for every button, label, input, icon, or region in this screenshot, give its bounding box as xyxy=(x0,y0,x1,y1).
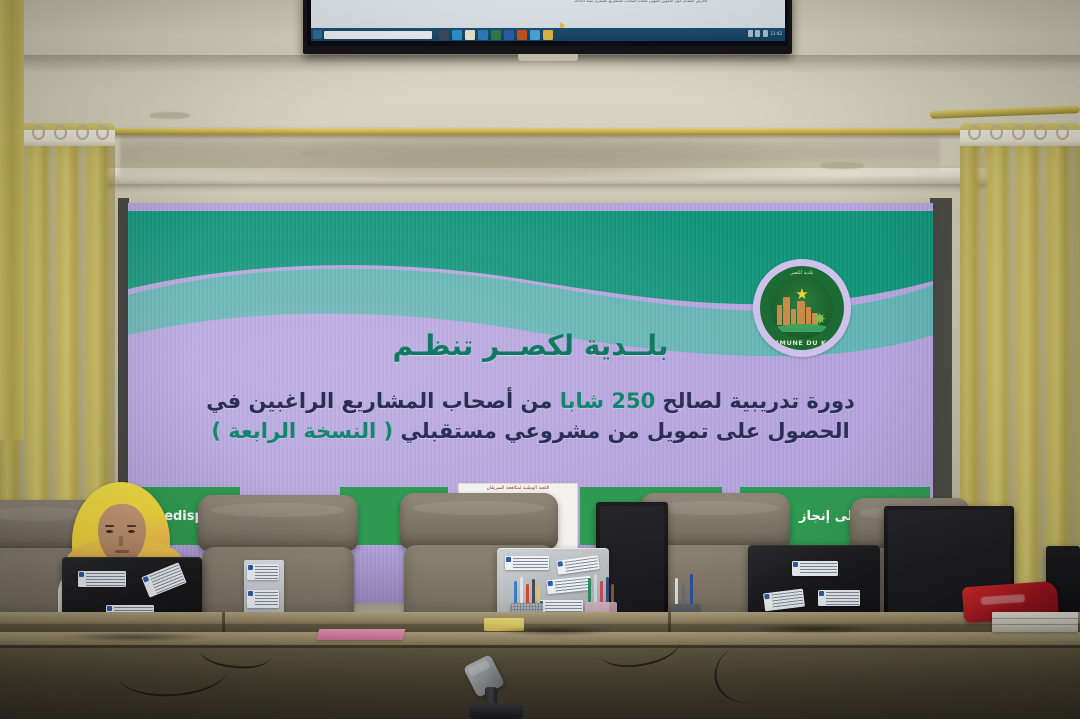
eyebrow-left xyxy=(105,525,114,527)
banner-line-2: الحصول على تمويل من مشروعي مستقبلي ( الن… xyxy=(128,416,933,446)
system-tray[interactable]: 11:42 xyxy=(748,30,782,37)
eyebrow-right xyxy=(127,525,136,527)
laptop-sticker xyxy=(792,561,838,576)
pink-paper-sheet[interactable] xyxy=(317,629,406,640)
nose xyxy=(119,536,123,546)
tv-document-text: العرض المقدم حول التكوين المهني لفائدة أ… xyxy=(517,0,707,4)
curtain-ring-icon xyxy=(968,125,981,140)
banner-line2-part1: الحصول على تمويل من مشروعي مستقبلي xyxy=(400,419,849,443)
pen-white xyxy=(520,577,523,603)
folder-icon[interactable] xyxy=(543,30,553,40)
object-shadow xyxy=(495,626,615,636)
banner-line1-part1: دورة تدريبية لصالح xyxy=(663,389,855,413)
powerpoint-icon[interactable] xyxy=(517,30,527,40)
wall-display-tv[interactable]: العرض المقدم حول التكوين المهني لفائدة أ… xyxy=(303,0,792,54)
pen-yellow xyxy=(537,586,540,603)
banner-line-1: دورة تدريبية لصالح 250 شابا من أصحاب الم… xyxy=(128,386,933,416)
laptop-sticker xyxy=(505,556,549,570)
pen-grey xyxy=(682,584,685,604)
logo-arabic-name: بلدية لكصر xyxy=(760,270,844,276)
start-button-icon[interactable] xyxy=(313,30,322,39)
poster-title: اللجنة الوطنية لمكافحة السرطان xyxy=(459,486,577,492)
volume-icon[interactable] xyxy=(755,30,760,37)
curtain-ring-icon xyxy=(990,125,1003,140)
pen-red xyxy=(526,584,529,603)
banner-line1-part2: شابا xyxy=(560,389,604,413)
curtain-ring-icon xyxy=(76,125,89,140)
mail-icon[interactable] xyxy=(478,30,488,40)
banner-text-block: بلــدية لكصــر تنظـم دورة تدريبية لصالح … xyxy=(128,329,933,446)
curtain-ring-icon xyxy=(1034,125,1047,140)
windows-taskbar[interactable]: 11:42 xyxy=(311,28,785,41)
mouth xyxy=(115,550,129,553)
pen-white xyxy=(594,574,597,602)
eye-left xyxy=(106,530,113,533)
wall-chip xyxy=(150,112,190,119)
taskbar-search-input[interactable] xyxy=(324,31,432,39)
pen-pink xyxy=(600,581,603,602)
explorer-icon[interactable] xyxy=(465,30,475,40)
microphone-base xyxy=(469,703,523,719)
banner-participant-count: 250 xyxy=(611,389,655,413)
microphone-head xyxy=(463,654,505,698)
tv-screen[interactable]: العرض المقدم حول التكوين المهني لفائدة أ… xyxy=(311,0,785,41)
word-icon[interactable] xyxy=(504,30,514,40)
laptop-sticker xyxy=(818,590,860,606)
tv-stand xyxy=(518,54,578,61)
object-shadow xyxy=(60,632,210,642)
conference-hall-photo: العرض المقدم حول التكوين المهني لفائدة أ… xyxy=(0,0,1080,719)
brochure-label xyxy=(247,590,279,608)
wall-chip xyxy=(300,150,326,156)
edge-icon[interactable] xyxy=(452,30,462,40)
pen-blue xyxy=(690,574,693,604)
banner-headline: بلــدية لكصــر تنظـم xyxy=(128,329,933,362)
brochure-label xyxy=(247,564,279,580)
store-icon[interactable] xyxy=(491,30,501,40)
curtain-ring-icon xyxy=(54,125,67,140)
eye-right xyxy=(128,530,135,533)
curtain-left-edge xyxy=(0,0,24,440)
banner-line1-part3: من أصحاب المشاريع الراغبين في xyxy=(206,389,552,413)
curtain-ring-icon xyxy=(1056,125,1069,140)
curtain-ring-icon xyxy=(1012,125,1025,140)
taskbar-clock[interactable]: 11:42 xyxy=(770,31,782,36)
cityscape-icon xyxy=(777,297,818,325)
curtain-ring-icon xyxy=(96,125,109,140)
chair-2-headrest xyxy=(198,495,358,551)
paper-stack[interactable] xyxy=(992,612,1078,632)
pen-green xyxy=(588,578,591,602)
pen-white xyxy=(675,578,678,604)
network-icon[interactable] xyxy=(748,30,753,37)
task-view-icon[interactable] xyxy=(439,30,449,40)
conference-microphone[interactable] xyxy=(455,646,535,719)
banner-edition-label: ( النسخة الرابعة ) xyxy=(211,419,393,443)
curtain-ring-icon xyxy=(32,125,45,140)
pen-navy xyxy=(606,577,609,602)
battery-icon[interactable] xyxy=(763,30,768,37)
wall-chip xyxy=(470,158,504,164)
curtain-rod xyxy=(8,128,1072,135)
chrome-icon[interactable] xyxy=(530,30,540,40)
taskbar-icon-group[interactable] xyxy=(439,30,553,40)
chair-3-headrest xyxy=(400,493,558,549)
pen-blue xyxy=(514,581,517,603)
pen-brown xyxy=(611,584,614,602)
pen-black xyxy=(532,579,535,603)
object-shadow xyxy=(746,624,886,634)
wall-chip xyxy=(820,162,864,169)
laptop-sticker xyxy=(78,571,126,587)
